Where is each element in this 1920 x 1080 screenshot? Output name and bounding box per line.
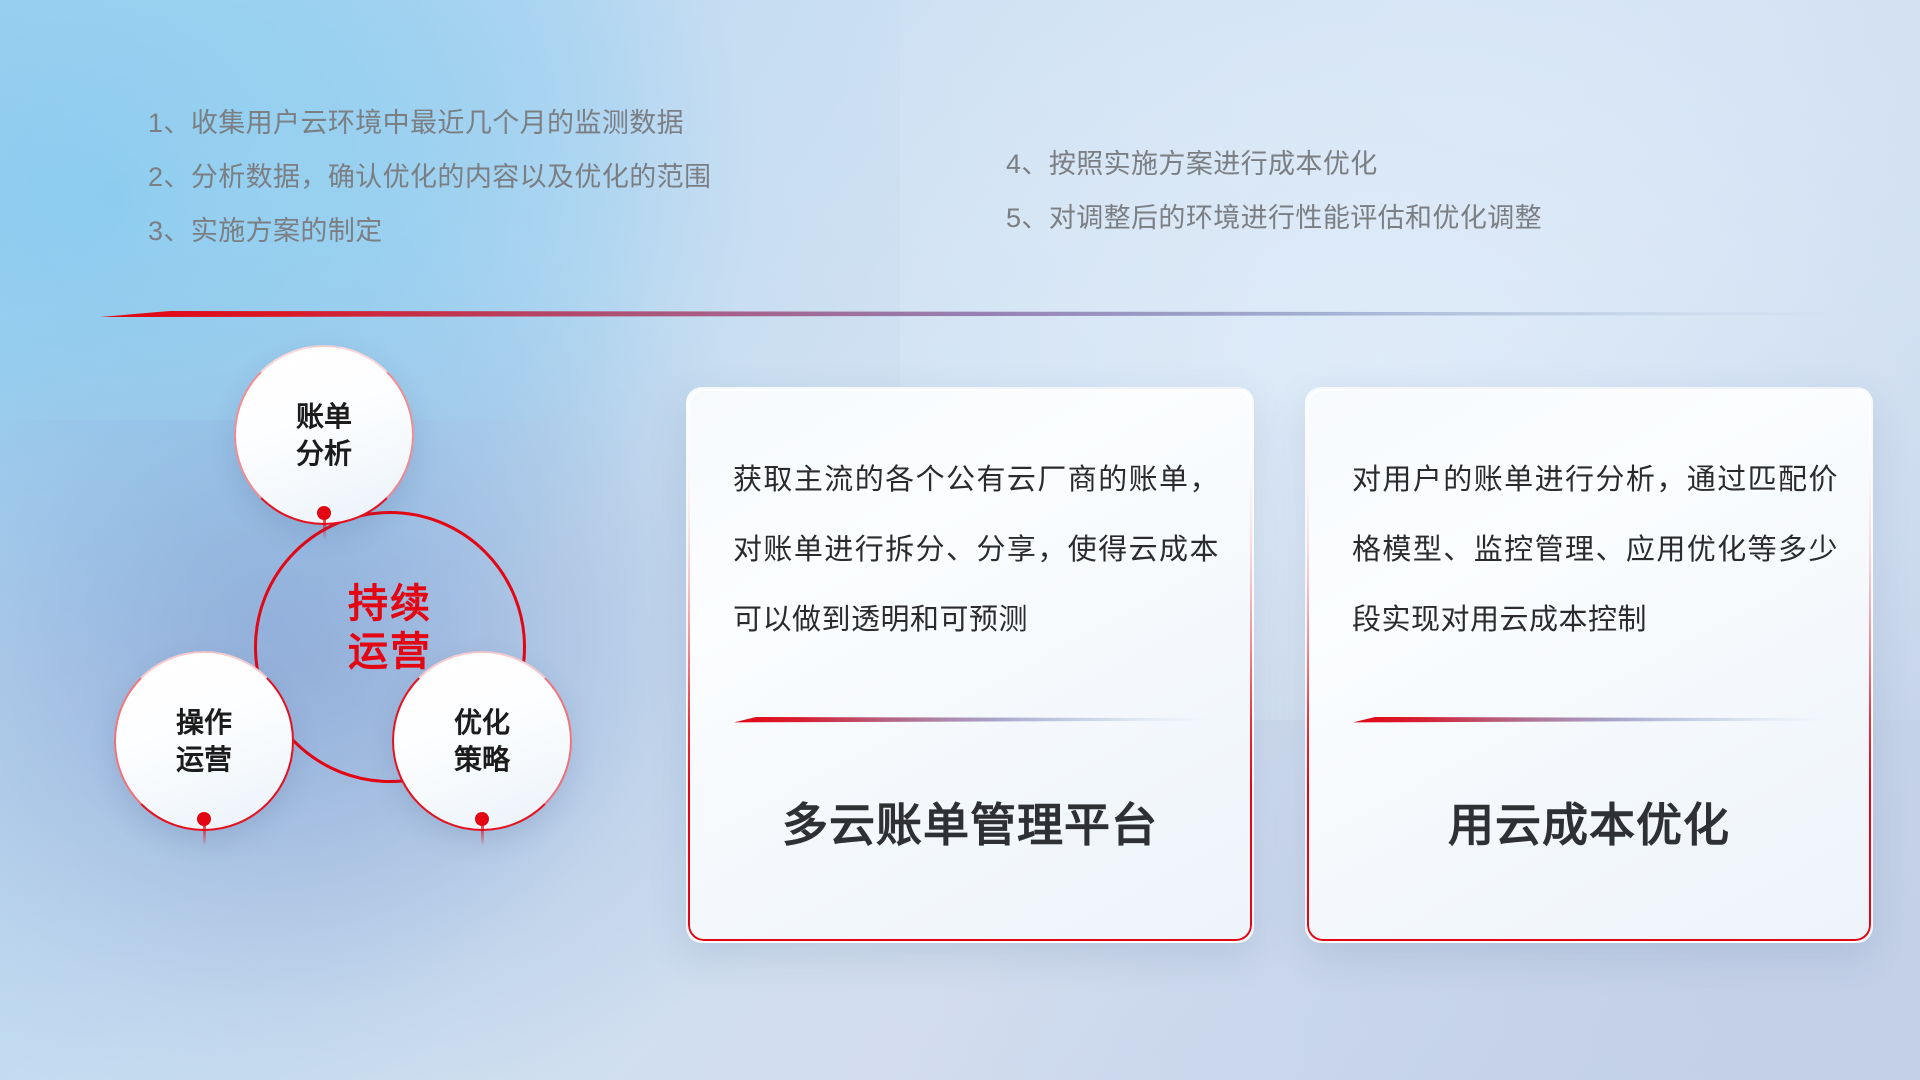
venn-center-label: 持续 运营 bbox=[254, 580, 526, 676]
feature-card-cloud-cost-optimization[interactable]: 对用户的账单进行分析，通过匹配价格模型、监控管理、应用优化等多少段实现对用云成本… bbox=[1305, 387, 1873, 943]
venn-marker-dot-right bbox=[475, 812, 489, 826]
venn-bubble-label-line2: 策略 bbox=[454, 741, 510, 778]
header-divider-rule bbox=[100, 310, 1860, 318]
step-item-4: 4、按照实施方案进行成本优化 bbox=[1006, 137, 1542, 191]
step-item-5: 5、对调整后的环境进行性能评估和优化调整 bbox=[1006, 191, 1542, 245]
card-divider-rule bbox=[1353, 716, 1833, 723]
venn-marker-dot-top bbox=[317, 506, 331, 520]
step-column-right: 4、按照实施方案进行成本优化 5、对调整后的环境进行性能评估和优化调整 bbox=[1006, 137, 1542, 245]
venn-bubble-label-line1: 优化 bbox=[454, 704, 510, 741]
venn-bubble-bill-analysis[interactable]: 账单 分析 bbox=[234, 345, 414, 525]
venn-bubble-opt-strategy[interactable]: 优化 策略 bbox=[392, 651, 572, 831]
card-title: 用云成本优化 bbox=[1307, 789, 1871, 855]
venn-bubble-label-line2: 分析 bbox=[296, 435, 352, 472]
card-body-text: 获取主流的各个公有云厂商的账单，对账单进行拆分、分享，使得云成本可以做到透明和可… bbox=[733, 445, 1219, 655]
venn-bubble-ops-operation[interactable]: 操作 运营 bbox=[114, 651, 294, 831]
venn-marker-dot-left bbox=[197, 812, 211, 826]
slide-root: 1、收集用户云环境中最近几个月的监测数据 2、分析数据，确认优化的内容以及优化的… bbox=[0, 0, 1920, 1080]
step-item-1: 1、收集用户云环境中最近几个月的监测数据 bbox=[148, 96, 711, 150]
step-item-3: 3、实施方案的制定 bbox=[148, 204, 711, 258]
venn-bubble-label-line1: 账单 bbox=[296, 398, 352, 435]
card-title: 多云账单管理平台 bbox=[688, 789, 1252, 855]
venn-center-label-line1: 持续 bbox=[254, 580, 526, 628]
venn-bubble-label-line2: 运营 bbox=[176, 741, 232, 778]
feature-card-multi-cloud-billing-platform[interactable]: 获取主流的各个公有云厂商的账单，对账单进行拆分、分享，使得云成本可以做到透明和可… bbox=[686, 387, 1254, 943]
card-divider-rule bbox=[734, 716, 1214, 723]
card-body-text: 对用户的账单进行分析，通过匹配价格模型、监控管理、应用优化等多少段实现对用云成本… bbox=[1352, 445, 1838, 655]
step-column-left: 1、收集用户云环境中最近几个月的监测数据 2、分析数据，确认优化的内容以及优化的… bbox=[148, 96, 711, 258]
venn-bubble-label-line1: 操作 bbox=[176, 704, 232, 741]
venn-center-label-line2: 运营 bbox=[254, 628, 526, 676]
venn-diagram: 账单 分析 操作 运营 优化 策略 持续 运营 bbox=[92, 345, 672, 965]
step-item-2: 2、分析数据，确认优化的内容以及优化的范围 bbox=[148, 150, 711, 204]
